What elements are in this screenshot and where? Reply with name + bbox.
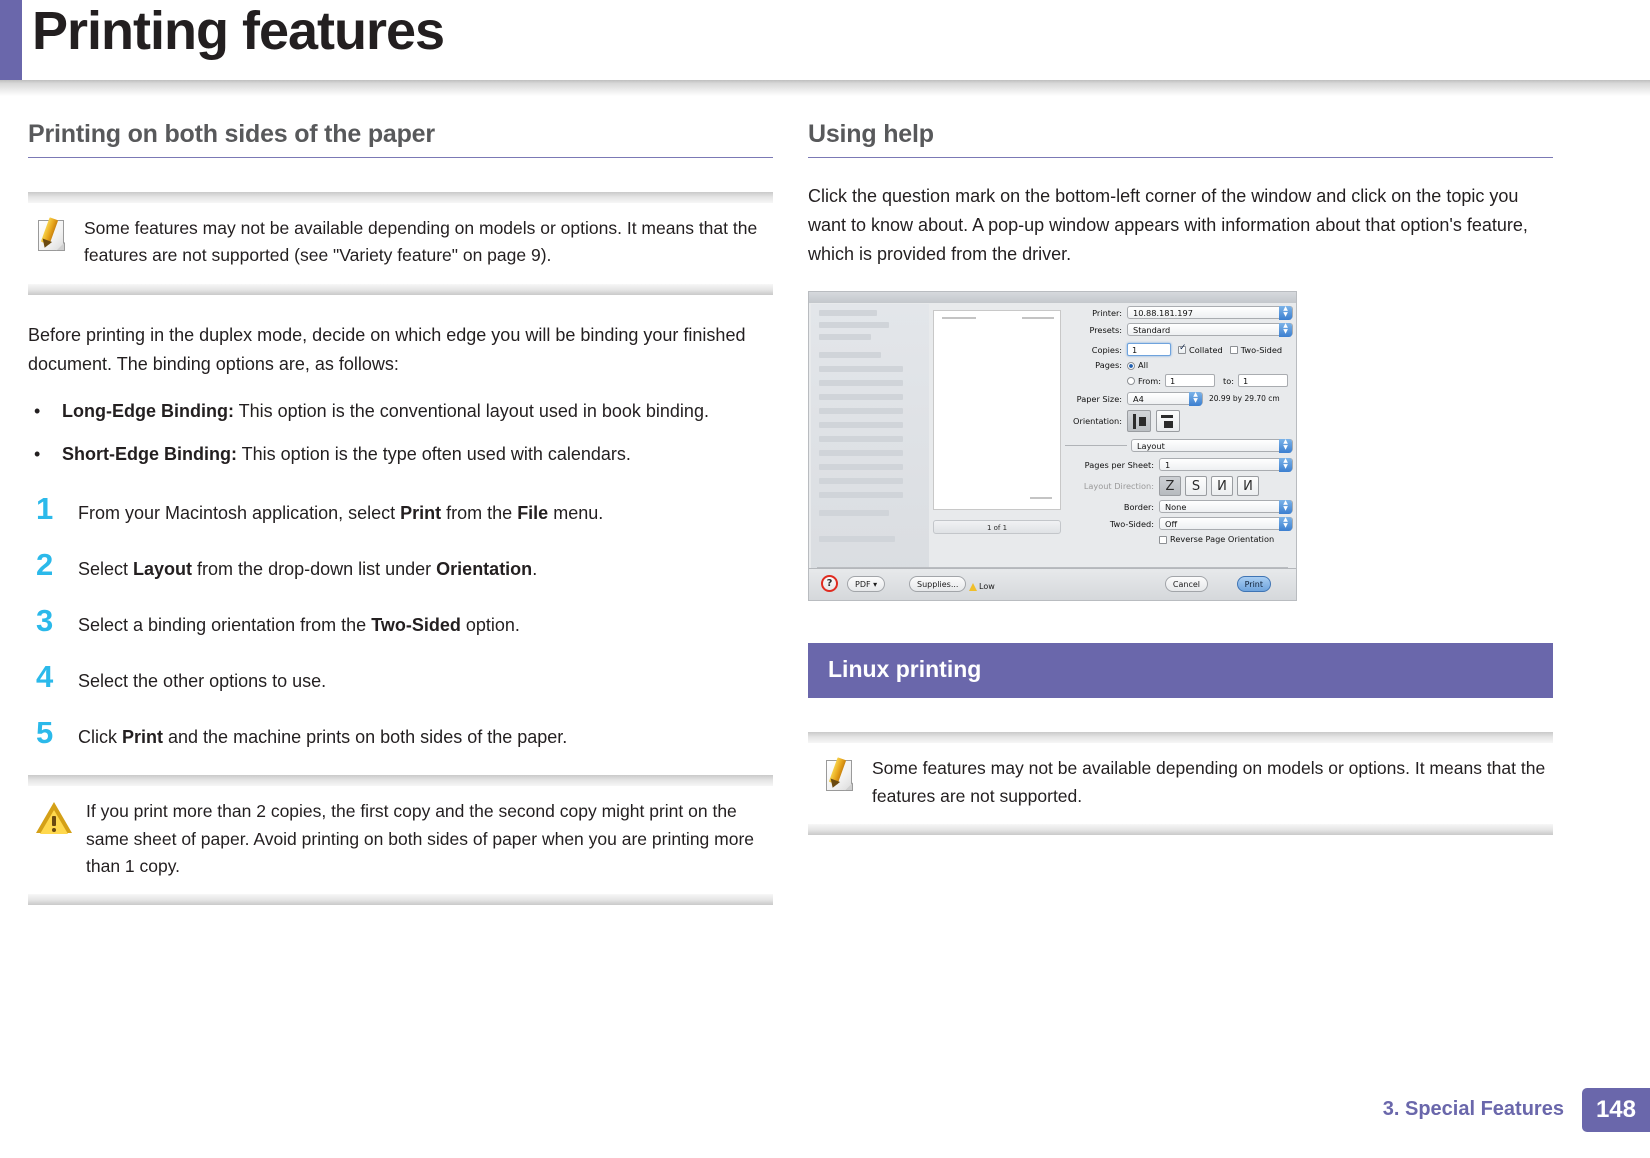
step-bold-1: Print	[122, 727, 163, 747]
orientation-portrait-button[interactable]	[1127, 410, 1151, 432]
pages-all-row: Pages: All	[1065, 360, 1293, 370]
chevron-updown-icon: ▲▼	[1279, 323, 1292, 337]
pages-all-radio[interactable]: All	[1127, 360, 1148, 370]
layout-direction-button-4[interactable]: И	[1237, 476, 1259, 496]
two-sided-value: Off	[1165, 519, 1177, 529]
step-number: 2	[28, 551, 78, 580]
layout-direction-button-1[interactable]: Z	[1159, 476, 1181, 496]
pages-range-row: From: 1 to: 1	[1065, 374, 1293, 387]
chevron-updown-icon: ▲▼	[1279, 517, 1292, 531]
two-sided-cb-label: Two-Sided	[1241, 345, 1282, 355]
border-select[interactable]: None ▲▼	[1159, 500, 1293, 513]
two-sided-row: Two-Sided: Off ▲▼	[1065, 517, 1293, 530]
step-bold-1: Layout	[133, 559, 192, 579]
reverse-page-checkbox[interactable]: Reverse Page Orientation	[1159, 534, 1274, 544]
low-supply-warning: Low	[969, 582, 995, 591]
header-divider	[0, 80, 1650, 96]
chevron-updown-icon: ▲▼	[1279, 306, 1292, 320]
step-bold-2: File	[517, 503, 548, 523]
step-number: 1	[28, 495, 78, 524]
step-number: 4	[28, 663, 78, 692]
border-row: Border: None ▲▼	[1065, 500, 1293, 513]
pages-per-sheet-label: Pages per Sheet:	[1065, 460, 1159, 470]
pages-label: Pages:	[1065, 360, 1127, 370]
footer-chapter: 3. Special Features	[1383, 1088, 1582, 1132]
intro-paragraph: Before printing in the duplex mode, deci…	[28, 321, 773, 379]
dialog-footer-bar: ? PDF ▾ Supplies... Low Cancel Print	[809, 568, 1296, 600]
section-title-using-help: Using help	[808, 120, 1553, 149]
mac-print-dialog-screenshot: 1 of 1 Printer: 10.88.181.197 ▲▼ Presets…	[808, 291, 1297, 601]
note-box-top-shade	[28, 192, 773, 203]
step-4: 4 Select the other options to use.	[28, 663, 773, 695]
pane-select[interactable]: Layout ▲▼	[1131, 439, 1293, 452]
paper-size-row: Paper Size: A4 ▲▼ 20.99 by 29.70 cm	[1065, 392, 1293, 405]
numbered-steps: 1 From your Macintosh application, selec…	[28, 495, 773, 751]
two-sided-select[interactable]: Off ▲▼	[1159, 517, 1293, 530]
step-bold-1: Print	[400, 503, 441, 523]
note-text: Some features may not be available depen…	[84, 215, 767, 270]
supplies-button[interactable]: Supplies...	[909, 576, 966, 592]
reverse-page-label: Reverse Page Orientation	[1170, 534, 1274, 544]
chevron-updown-icon: ▲▼	[1279, 458, 1292, 472]
step-bold-1: Two-Sided	[371, 615, 461, 635]
list-item: • Short-Edge Binding: This option is the…	[28, 440, 773, 469]
pdf-button[interactable]: PDF ▾	[847, 576, 885, 592]
step-text-pre: From your Macintosh application, select	[78, 503, 400, 523]
pages-from-input[interactable]: 1	[1165, 374, 1215, 387]
layout-direction-button-2[interactable]: S	[1185, 476, 1207, 496]
note-pencil-icon	[824, 758, 858, 794]
question-mark-icon[interactable]: ?	[821, 575, 838, 592]
orientation-label: Orientation:	[1065, 410, 1127, 426]
step-2: 2 Select Layout from the drop-down list …	[28, 551, 773, 583]
warning-triangle-icon	[969, 583, 977, 591]
presets-row: Presets: Standard ▲▼	[1065, 323, 1293, 336]
binding-options-list: • Long-Edge Binding: This option is the …	[28, 397, 773, 469]
note-box-linux: Some features may not be available depen…	[808, 732, 1553, 835]
pages-per-sheet-row: Pages per Sheet: 1 ▲▼	[1065, 458, 1293, 471]
left-column: Printing on both sides of the paper Some…	[28, 120, 773, 931]
cancel-button[interactable]: Cancel	[1165, 576, 1208, 592]
layout-direction-row: Layout Direction: Z S И И	[1065, 476, 1293, 496]
dialog-left-pane	[811, 304, 929, 579]
footer-page-number: 148	[1582, 1088, 1650, 1132]
caution-box-top-shade	[28, 775, 773, 786]
chevron-updown-icon: ▲▼	[1279, 500, 1292, 514]
pane-select-value: Layout	[1137, 441, 1165, 451]
presets-select[interactable]: Standard ▲▼	[1127, 323, 1293, 336]
pages-per-sheet-value: 1	[1165, 460, 1170, 470]
note-box-bottom-shade	[28, 284, 773, 295]
step-number: 5	[28, 719, 78, 748]
step-text-post: .	[532, 559, 537, 579]
low-supply-label: Low	[979, 582, 995, 591]
step-text-post: menu.	[548, 503, 603, 523]
two-sided-label: Two-Sided:	[1065, 519, 1159, 529]
step-text-pre: Select	[78, 559, 133, 579]
printer-label: Printer:	[1065, 308, 1127, 318]
bullet-marker: •	[28, 440, 62, 469]
copies-row: Copies: 1 Collated Two-Sided	[1065, 343, 1293, 356]
step-number: 3	[28, 607, 78, 636]
paper-dimensions: 20.99 by 29.70 cm	[1209, 394, 1280, 403]
printer-value: 10.88.181.197	[1133, 308, 1193, 318]
bullet-marker: •	[28, 397, 62, 426]
border-label: Border:	[1065, 502, 1159, 512]
preview-pager-label: 1 of 1	[987, 524, 1007, 532]
bullet-text: This option is the conventional layout u…	[234, 401, 709, 421]
copies-label: Copies:	[1065, 345, 1127, 355]
printer-select[interactable]: 10.88.181.197 ▲▼	[1127, 306, 1293, 319]
step-3: 3 Select a binding orientation from the …	[28, 607, 773, 639]
step-bold-2: Orientation	[436, 559, 532, 579]
chevron-updown-icon: ▲▼	[1189, 392, 1202, 406]
step-1: 1 From your Macintosh application, selec…	[28, 495, 773, 527]
pages-to-label: to:	[1223, 376, 1234, 386]
note-text: Some features may not be available depen…	[872, 755, 1547, 810]
bullet-text: This option is the type often used with …	[237, 444, 631, 464]
pages-per-sheet-select[interactable]: 1 ▲▼	[1159, 458, 1293, 471]
caution-box: If you print more than 2 copies, the fir…	[28, 775, 773, 905]
note-box-top-shade	[808, 732, 1553, 743]
using-help-paragraph: Click the question mark on the bottom-le…	[808, 182, 1553, 269]
preview-pager[interactable]: 1 of 1	[933, 520, 1061, 534]
collated-checkbox[interactable]: Collated	[1178, 345, 1223, 355]
reverse-page-row: Reverse Page Orientation	[1065, 534, 1293, 544]
print-button[interactable]: Print	[1237, 576, 1271, 592]
step-text-post: option.	[461, 615, 520, 635]
pages-from-label: From:	[1138, 376, 1161, 386]
step-text-pre: Select a binding orientation from the	[78, 615, 371, 635]
step-text-mid: from the drop-down list under	[192, 559, 436, 579]
note-pencil-icon	[36, 218, 70, 254]
step-5: 5 Click Print and the machine prints on …	[28, 719, 773, 751]
page-footer: 3. Special Features 148	[1383, 1088, 1650, 1132]
step-text-post: and the machine prints on both sides of …	[163, 727, 567, 747]
orientation-landscape-button[interactable]	[1156, 410, 1180, 432]
section-rule	[28, 157, 773, 158]
step-text-pre: Select the other options to use.	[78, 671, 326, 691]
document-preview	[933, 310, 1061, 510]
linux-printing-banner: Linux printing	[808, 643, 1553, 698]
dialog-titlebar	[809, 292, 1296, 303]
step-text-pre: Click	[78, 727, 122, 747]
pages-to-input[interactable]: 1	[1238, 374, 1288, 387]
collated-label: Collated	[1189, 345, 1223, 355]
orientation-row: Orientation:	[1065, 410, 1293, 432]
section-rule	[808, 157, 1553, 158]
step-text-mid: from the	[441, 503, 517, 523]
caution-box-bottom-shade	[28, 894, 773, 905]
printer-row: Printer: 10.88.181.197 ▲▼	[1065, 306, 1293, 319]
layout-direction-button-3[interactable]: И	[1211, 476, 1233, 496]
bullet-term: Short-Edge Binding:	[62, 444, 237, 464]
left-accent-bar	[0, 0, 22, 82]
paper-size-value: A4	[1133, 394, 1144, 404]
caution-text: If you print more than 2 copies, the fir…	[86, 798, 767, 880]
chevron-updown-icon: ▲▼	[1279, 439, 1292, 453]
pages-all-label: All	[1138, 360, 1148, 370]
bullet-term: Long-Edge Binding:	[62, 401, 234, 421]
pages-from-radio[interactable]: From:	[1127, 376, 1161, 386]
paper-size-label: Paper Size:	[1065, 394, 1127, 404]
paper-size-select[interactable]: A4 ▲▼	[1127, 392, 1203, 405]
presets-value: Standard	[1133, 325, 1170, 335]
pane-select-row: Layout ▲▼	[1065, 439, 1293, 452]
note-box-duplex: Some features may not be available depen…	[28, 192, 773, 295]
two-sided-checkbox[interactable]: Two-Sided	[1230, 345, 1282, 355]
note-box-bottom-shade	[808, 824, 1553, 835]
presets-label: Presets:	[1065, 325, 1127, 335]
pane-divider	[1065, 445, 1127, 446]
list-item: • Long-Edge Binding: This option is the …	[28, 397, 773, 426]
dialog-right-pane: Printer: 10.88.181.197 ▲▼ Presets: Stand…	[1065, 306, 1293, 548]
copies-input[interactable]: 1	[1127, 343, 1171, 356]
page-title: Printing features	[32, 0, 444, 66]
right-column: Using help Click the question mark on th…	[808, 120, 1553, 861]
border-value: None	[1165, 502, 1186, 512]
section-title-duplex: Printing on both sides of the paper	[28, 120, 773, 149]
layout-direction-label: Layout Direction:	[1065, 476, 1159, 491]
caution-triangle-icon	[36, 802, 72, 836]
